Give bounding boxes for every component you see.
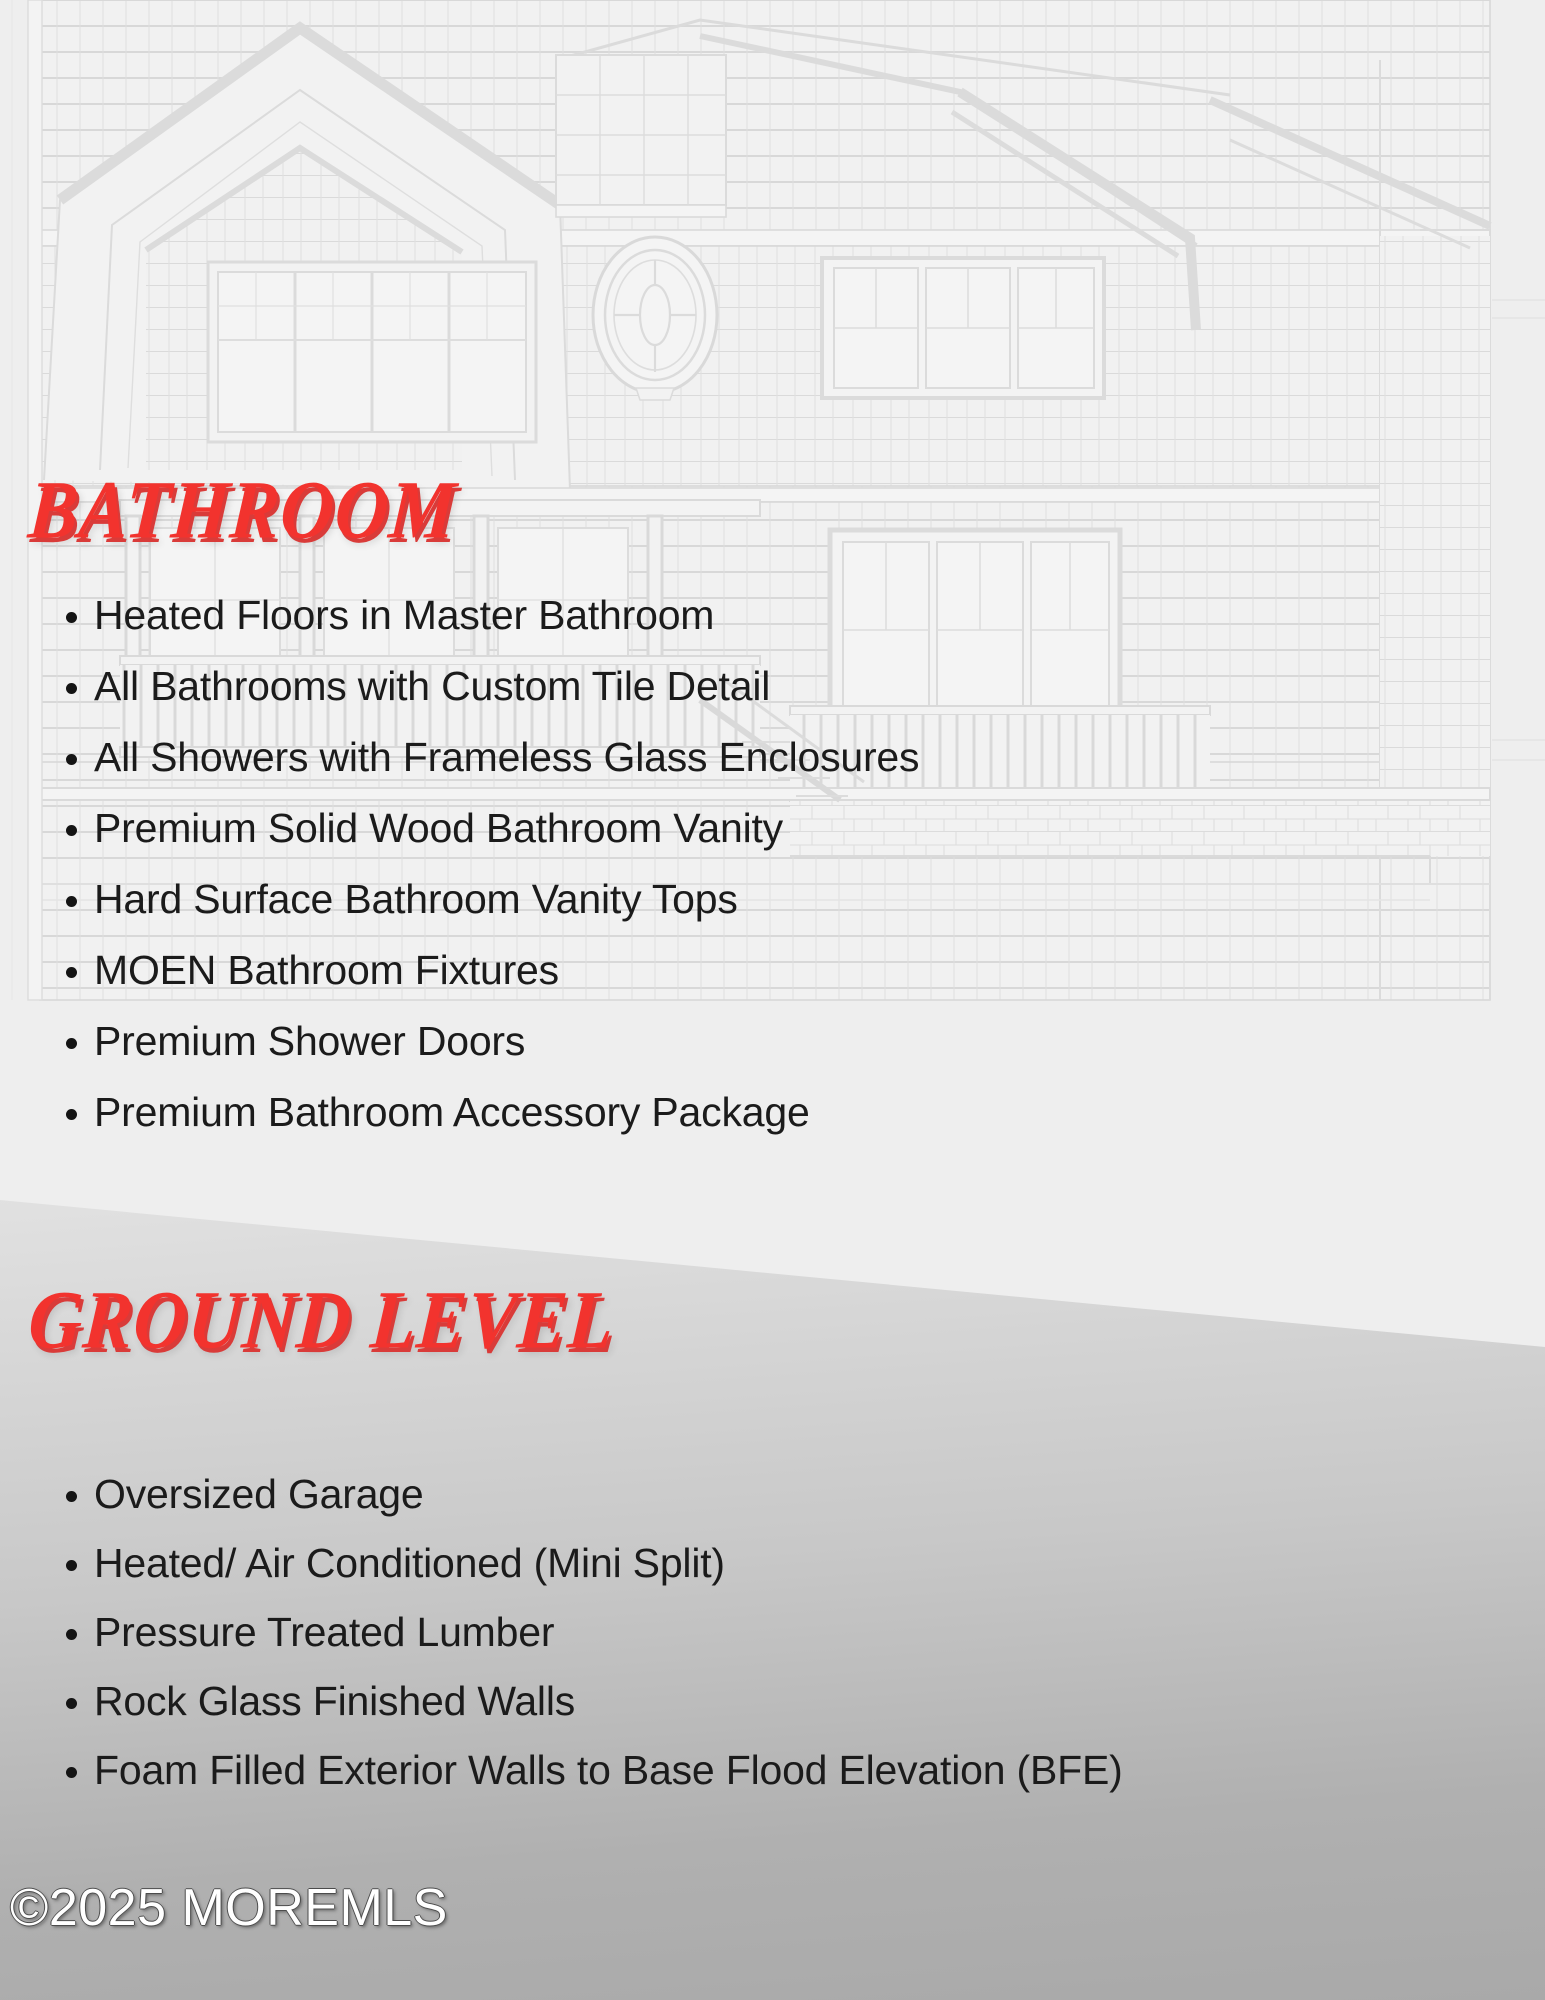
section-title-ground-level-text: GROUND LEVEL — [26, 1279, 617, 1362]
bullet-icon — [66, 1038, 77, 1049]
ground-level-feature-list: Oversized Garage Heated/ Air Conditioned… — [48, 1460, 1123, 1805]
bullet-icon — [66, 683, 77, 694]
list-item-label: Rock Glass Finished Walls — [94, 1678, 575, 1724]
list-item: Heated Floors in Master Bathroom — [48, 580, 919, 651]
bullet-icon — [66, 825, 77, 836]
list-item-label: All Showers with Frameless Glass Enclosu… — [94, 734, 919, 780]
list-item: Premium Shower Doors — [48, 1006, 919, 1077]
list-item: Heated/ Air Conditioned (Mini Split) — [48, 1529, 1123, 1598]
bullet-icon — [66, 612, 77, 623]
list-item-label: Oversized Garage — [94, 1471, 424, 1517]
bullet-icon — [66, 1491, 77, 1502]
section-title-bathroom-text: BATHROOM — [26, 469, 459, 552]
bullet-icon — [66, 1560, 77, 1571]
list-item-label: MOEN Bathroom Fixtures — [94, 947, 559, 993]
list-item-label: Heated Floors in Master Bathroom — [94, 592, 714, 638]
list-item-label: Pressure Treated Lumber — [94, 1609, 554, 1655]
list-item: Premium Solid Wood Bathroom Vanity — [48, 793, 919, 864]
bullet-icon — [66, 1698, 77, 1709]
list-item: Pressure Treated Lumber — [48, 1598, 1123, 1667]
feature-sheet-page: BATHROOM Heated Floors in Master Bathroo… — [0, 0, 1545, 2000]
list-item: All Showers with Frameless Glass Enclosu… — [48, 722, 919, 793]
list-item: Premium Bathroom Accessory Package — [48, 1077, 919, 1148]
list-item-label: Premium Shower Doors — [94, 1018, 525, 1064]
list-item: Oversized Garage — [48, 1460, 1123, 1529]
list-item: Foam Filled Exterior Walls to Base Flood… — [48, 1736, 1123, 1805]
bullet-icon — [66, 754, 77, 765]
list-item-label: Heated/ Air Conditioned (Mini Split) — [94, 1540, 725, 1586]
copyright-watermark: ©2025 MOREMLS — [10, 1878, 448, 1938]
list-item: Hard Surface Bathroom Vanity Tops — [48, 864, 919, 935]
list-item-label: Premium Bathroom Accessory Package — [94, 1089, 810, 1135]
section-title-ground-level: GROUND LEVEL — [26, 1288, 612, 1362]
bullet-icon — [66, 967, 77, 978]
bullet-icon — [66, 896, 77, 907]
list-item-label: Premium Solid Wood Bathroom Vanity — [94, 805, 783, 851]
list-item: MOEN Bathroom Fixtures — [48, 935, 919, 1006]
list-item: All Bathrooms with Custom Tile Detail — [48, 651, 919, 722]
list-item: Rock Glass Finished Walls — [48, 1667, 1123, 1736]
list-item-label: All Bathrooms with Custom Tile Detail — [94, 663, 770, 709]
bullet-icon — [66, 1109, 77, 1120]
bullet-icon — [66, 1767, 77, 1778]
list-item-label: Hard Surface Bathroom Vanity Tops — [94, 876, 738, 922]
bullet-icon — [66, 1629, 77, 1640]
list-item-label: Foam Filled Exterior Walls to Base Flood… — [94, 1747, 1123, 1793]
section-title-bathroom: BATHROOM — [26, 478, 453, 552]
bathroom-feature-list: Heated Floors in Master Bathroom All Bat… — [48, 580, 919, 1148]
